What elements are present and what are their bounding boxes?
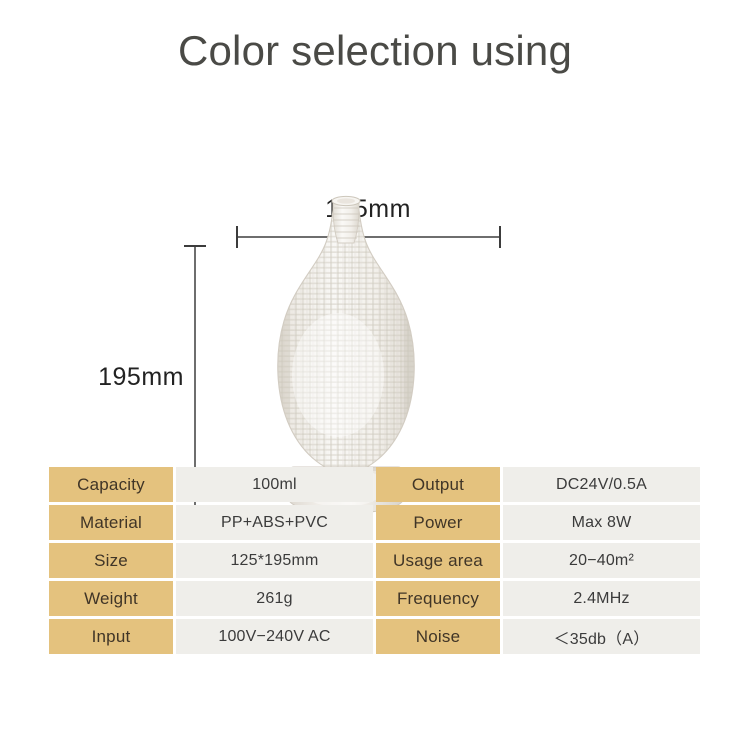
spec-label-capacity: Capacity	[49, 467, 173, 502]
spec-value-frequency: 2.4MHz	[503, 581, 700, 616]
height-dimension-label: 195mm	[74, 363, 184, 392]
spec-label-input: Input	[49, 619, 173, 654]
height-dimension-cap-top	[184, 245, 206, 247]
table-row: Capacity 100ml	[49, 467, 373, 502]
table-row: Usage area 20−40m²	[376, 543, 700, 578]
spec-block-right: Output DC24V/0.5A Power Max 8W Usage are…	[376, 467, 700, 654]
product-dimension-figure: 125mm 195mm	[0, 95, 750, 455]
spec-value-material: PP+ABS+PVC	[176, 505, 373, 540]
table-row: Frequency 2.4MHz	[376, 581, 700, 616]
spec-label-size: Size	[49, 543, 173, 578]
width-dimension-cap-right	[499, 226, 501, 248]
spec-value-noise: ＜35db（A）	[503, 619, 700, 654]
spec-value-capacity: 100ml	[176, 467, 373, 502]
spec-value-power: Max 8W	[503, 505, 700, 540]
table-row: Output DC24V/0.5A	[376, 467, 700, 502]
spec-label-output: Output	[376, 467, 500, 502]
spec-label-power: Power	[376, 505, 500, 540]
spec-value-size: 125*195mm	[176, 543, 373, 578]
spec-label-weight: Weight	[49, 581, 173, 616]
spec-label-usage-area: Usage area	[376, 543, 500, 578]
spec-value-usage-area: 20−40m²	[503, 543, 700, 578]
table-row: Input 100V−240V AC	[49, 619, 373, 654]
table-row: Weight 261g	[49, 581, 373, 616]
table-row: Power Max 8W	[376, 505, 700, 540]
table-row: Size 125*195mm	[49, 543, 373, 578]
table-row: Noise ＜35db（A）	[376, 619, 700, 654]
specification-table: Capacity 100ml Material PP+ABS+PVC Size …	[49, 467, 700, 654]
spec-label-noise: Noise	[376, 619, 500, 654]
spec-value-input: 100V−240V AC	[176, 619, 373, 654]
diffuser-neck	[332, 196, 360, 243]
spec-block-left: Capacity 100ml Material PP+ABS+PVC Size …	[49, 467, 373, 654]
spec-value-output: DC24V/0.5A	[503, 467, 700, 502]
width-dimension-cap-left	[236, 226, 238, 248]
spec-value-weight: 261g	[176, 581, 373, 616]
spec-label-frequency: Frequency	[376, 581, 500, 616]
spec-label-material: Material	[49, 505, 173, 540]
table-row: Material PP+ABS+PVC	[49, 505, 373, 540]
page-title: Color selection using	[0, 28, 750, 74]
